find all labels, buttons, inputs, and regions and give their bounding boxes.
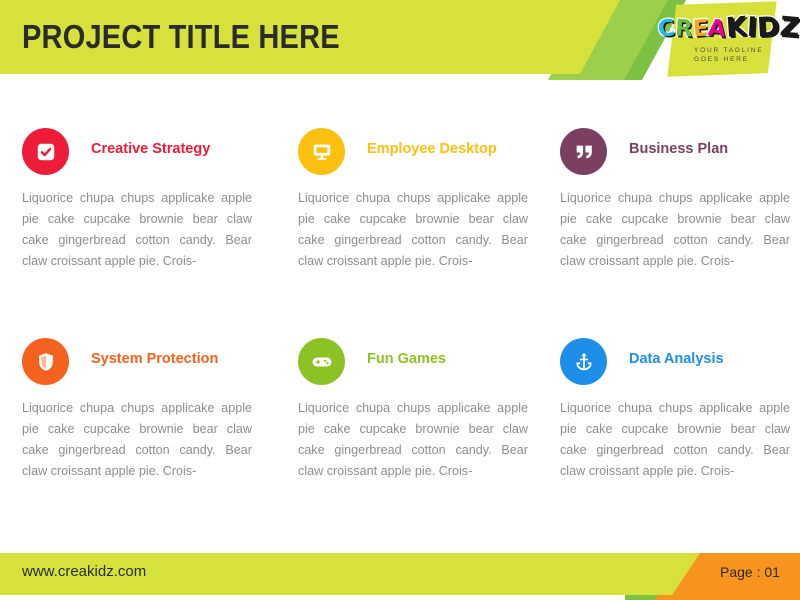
logo-letter-k: K: [725, 13, 748, 41]
slide-header: PROJECT TITLE HERE CREAKIDZ YOUR TAGLINE…: [0, 0, 800, 80]
brand-logo[interactable]: CREAKIDZ YOUR TAGLINE GOES HERE: [652, 2, 792, 80]
card-body-text: Liquorice chupa chups applicake apple pi…: [22, 398, 252, 482]
card-title: Business Plan: [629, 141, 728, 157]
desktop-monitor-icon: [298, 128, 345, 175]
anchor-icon: [560, 338, 607, 385]
card-header: Creative Strategy: [22, 128, 254, 184]
logo-tagline-line1: YOUR TAGLINE: [694, 46, 794, 55]
feature-card-employee-desktop[interactable]: Employee Desktop Liquorice chupa chups a…: [298, 128, 530, 272]
checkbox-icon: [22, 128, 69, 175]
card-header: System Protection: [22, 338, 254, 394]
footer-website-link[interactable]: www.creakidz.com: [22, 563, 146, 580]
card-header: Fun Games: [298, 338, 530, 394]
card-header: Data Analysis: [560, 338, 792, 394]
shield-icon: [22, 338, 69, 385]
logo-wordmark: CREAKIDZ: [658, 14, 790, 44]
card-header: Employee Desktop: [298, 128, 530, 184]
card-body-text: Liquorice chupa chups applicake apple pi…: [560, 188, 790, 272]
card-body-text: Liquorice chupa chups applicake apple pi…: [560, 398, 790, 482]
quote-icon: [560, 128, 607, 175]
logo-tagline-line2: GOES HERE: [694, 55, 794, 64]
card-title: Employee Desktop: [367, 141, 497, 157]
card-title: System Protection: [91, 351, 218, 367]
card-title: Data Analysis: [629, 351, 724, 367]
feature-card-fun-games[interactable]: Fun Games Liquorice chupa chups applicak…: [298, 338, 530, 482]
feature-card-creative-strategy[interactable]: Creative Strategy Liquorice chupa chups …: [22, 128, 254, 272]
page-title: PROJECT TITLE HERE: [22, 18, 340, 56]
card-body-text: Liquorice chupa chups applicake apple pi…: [298, 188, 528, 272]
logo-letter-d: D: [756, 13, 780, 41]
card-body-text: Liquorice chupa chups applicake apple pi…: [22, 188, 252, 272]
card-title: Creative Strategy: [91, 141, 210, 157]
logo-letter-r: R: [674, 15, 694, 43]
feature-card-system-protection[interactable]: System Protection Liquorice chupa chups …: [22, 338, 254, 482]
slide-footer: www.creakidz.com Page : 01: [0, 553, 800, 600]
card-header: Business Plan: [560, 128, 792, 184]
footer-page-number: Page : 01: [720, 564, 780, 580]
card-body-text: Liquorice chupa chups applicake apple pi…: [298, 398, 528, 482]
logo-tagline: YOUR TAGLINE GOES HERE: [694, 46, 794, 64]
slide-canvas: PROJECT TITLE HERE CREAKIDZ YOUR TAGLINE…: [0, 0, 800, 600]
card-title: Fun Games: [367, 351, 446, 367]
feature-card-business-plan[interactable]: Business Plan Liquorice chupa chups appl…: [560, 128, 792, 272]
gamepad-icon: [298, 338, 345, 385]
feature-card-data-analysis[interactable]: Data Analysis Liquorice chupa chups appl…: [560, 338, 792, 482]
logo-letter-z: Z: [778, 13, 800, 42]
